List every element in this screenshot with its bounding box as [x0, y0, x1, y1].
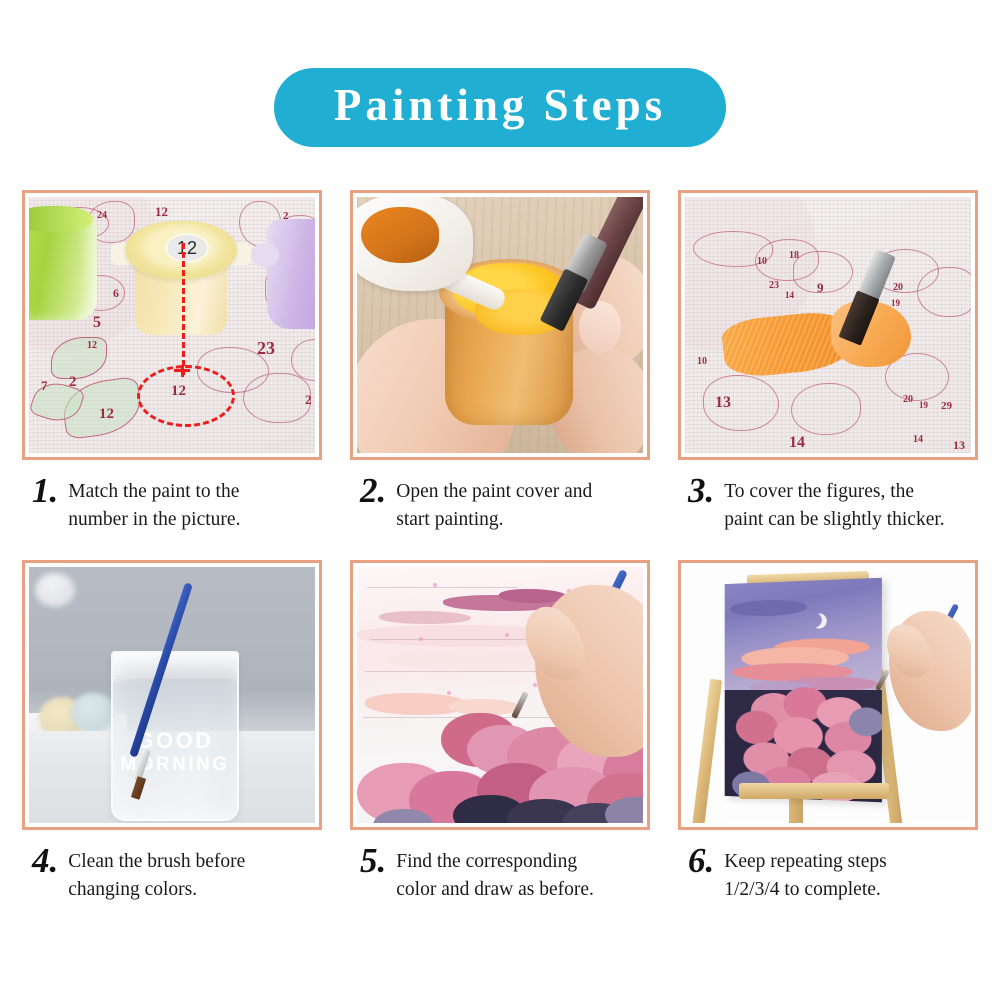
step-2-photo-frame — [350, 190, 650, 460]
canvas-number: 12 — [87, 341, 97, 351]
canvas-number: 2 — [305, 393, 312, 406]
canvas-number: 18 — [789, 251, 799, 261]
title-banner-wrapper: Painting Steps — [0, 68, 1000, 147]
canvas-number: 24 — [97, 211, 107, 221]
green-paint-pot — [29, 215, 97, 320]
canvas-outline-line — [371, 639, 551, 640]
step-1-line-1: Match the paint to the — [68, 481, 239, 502]
canvas-number: 6 — [113, 287, 119, 299]
step-6-text: Keep repeating steps 1/2/3/4 to complete… — [724, 848, 886, 903]
glass-text-line-2: MORNING — [113, 754, 237, 775]
step-number-3: 3. — [688, 474, 714, 507]
canvas-number: 10 — [757, 257, 767, 267]
canvas-number: 14 — [789, 435, 805, 451]
canvas-number: 9 — [817, 281, 824, 294]
step-card-1: 12 24 2 7 6 5 23 12 2 7 12 24 23 2 — [22, 190, 322, 533]
canvas-number: 7 — [41, 379, 48, 392]
canvas-number: 2 — [69, 375, 77, 390]
red-dashed-pointer-line — [182, 243, 185, 375]
step-6-caption: 6. Keep repeating steps 1/2/3/4 to compl… — [678, 848, 978, 903]
step-1-text: Match the paint to the number in the pic… — [68, 478, 240, 533]
canvas-number: 10 — [697, 357, 707, 367]
step-4-text: Clean the brush before changing colors. — [68, 848, 245, 903]
step-4-line-1: Clean the brush before — [68, 851, 245, 872]
step-card-4: GOOD MORNING 4. Clean the brush before c… — [22, 560, 322, 903]
easel-tray — [739, 783, 889, 799]
step-4-caption: 4. Clean the brush before changing color… — [22, 848, 322, 903]
canvas-number: 23 — [769, 281, 779, 291]
canvas-number: 23 — [257, 339, 275, 357]
step-5-photo-frame — [350, 560, 650, 830]
purple-paint-pot — [267, 219, 315, 329]
step-3-photo-frame: 10 18 23 14 9 20 19 10 20 13 14 20 19 29… — [678, 190, 978, 460]
yellow-paint-pot: 12 — [125, 221, 237, 337]
canvas-number: 12 — [99, 407, 114, 422]
canvas-number: 29 — [941, 401, 952, 412]
step-number-2: 2. — [360, 474, 386, 507]
finished-canvas — [725, 578, 882, 803]
step-card-6: 6. Keep repeating steps 1/2/3/4 to compl… — [678, 560, 978, 903]
step-card-2: 2. Open the paint cover and start painti… — [350, 190, 650, 533]
step-card-3: 10 18 23 14 9 20 19 10 20 13 14 20 19 29… — [678, 190, 978, 533]
step-2-line-1: Open the paint cover and — [396, 481, 592, 502]
highlighted-canvas-number: 12 — [171, 383, 186, 400]
paint-pot-on-numbered-canvas-photo: 12 24 2 7 6 5 23 12 2 7 12 24 23 2 — [29, 197, 315, 453]
red-dashed-highlight-ellipse — [137, 365, 235, 427]
step-5-line-1: Find the corresponding — [396, 851, 577, 872]
fingernail — [579, 301, 621, 353]
canvas-number: 13 — [953, 439, 965, 451]
step-6-photo-frame — [678, 560, 978, 830]
canvas-outline-line — [367, 587, 517, 588]
step-2-line-2: start painting. — [396, 506, 592, 534]
step-5-text: Find the corresponding color and draw as… — [396, 848, 594, 903]
step-1-line-2: number in the picture. — [68, 506, 240, 534]
canvas-number: 20 — [903, 395, 913, 405]
step-3-line-1: To cover the figures, the — [724, 481, 914, 502]
canvas-number: 13 — [715, 395, 731, 411]
step-4-line-2: changing colors. — [68, 876, 245, 904]
step-card-5: 5. Find the corresponding color and draw… — [350, 560, 650, 903]
step-number-6: 6. — [688, 844, 714, 877]
paint-residue-on-lid — [361, 207, 439, 263]
step-number-1: 1. — [32, 474, 58, 507]
hand-holding-open-paint-pot-photo — [357, 197, 643, 453]
step-4-photo-frame: GOOD MORNING — [22, 560, 322, 830]
step-2-text: Open the paint cover and start painting. — [396, 478, 592, 533]
step-3-text: To cover the figures, the paint can be s… — [724, 478, 944, 533]
step-2-caption: 2. Open the paint cover and start painti… — [350, 478, 650, 533]
step-3-line-2: paint can be slightly thicker. — [724, 506, 944, 534]
step-number-5: 5. — [360, 844, 386, 877]
canvas-number: 14 — [785, 291, 794, 300]
canvas-number: 12 — [155, 205, 168, 218]
page-title: Painting Steps — [320, 82, 680, 129]
canvas-number: 19 — [919, 401, 928, 410]
canvas-number: 5 — [93, 315, 101, 331]
open-paint-lid — [357, 197, 473, 291]
canvas-outline-shape — [243, 373, 311, 423]
painting-steps-grid: 12 24 2 7 6 5 23 12 2 7 12 24 23 2 — [22, 190, 978, 904]
partially-painted-canvas-photo — [357, 567, 643, 823]
step-5-line-2: color and draw as before. — [396, 876, 594, 904]
canvas-outline-shape — [917, 267, 971, 317]
finished-painting-on-easel-photo — [685, 567, 971, 823]
step-5-caption: 5. Find the corresponding color and draw… — [350, 848, 650, 903]
step-number-4: 4. — [32, 844, 58, 877]
step-1-photo-frame: 12 24 2 7 6 5 23 12 2 7 12 24 23 2 — [22, 190, 322, 460]
canvas-outline-shape — [791, 383, 861, 435]
step-3-caption: 3. To cover the figures, the paint can b… — [678, 478, 978, 533]
canvas-number: 14 — [913, 435, 923, 445]
step-1-caption: 1. Match the paint to the number in the … — [22, 478, 322, 533]
brush-in-water-glass-photo: GOOD MORNING — [29, 567, 315, 823]
title-banner: Painting Steps — [274, 68, 726, 147]
step-6-line-1: Keep repeating steps — [724, 851, 886, 872]
brush-applying-paint-photo: 10 18 23 14 9 20 19 10 20 13 14 20 19 29… — [685, 197, 971, 453]
step-6-line-2: 1/2/3/4 to complete. — [724, 876, 886, 904]
canvas-number: 20 — [893, 283, 903, 293]
paint-pot-number-label: 12 — [167, 235, 207, 261]
